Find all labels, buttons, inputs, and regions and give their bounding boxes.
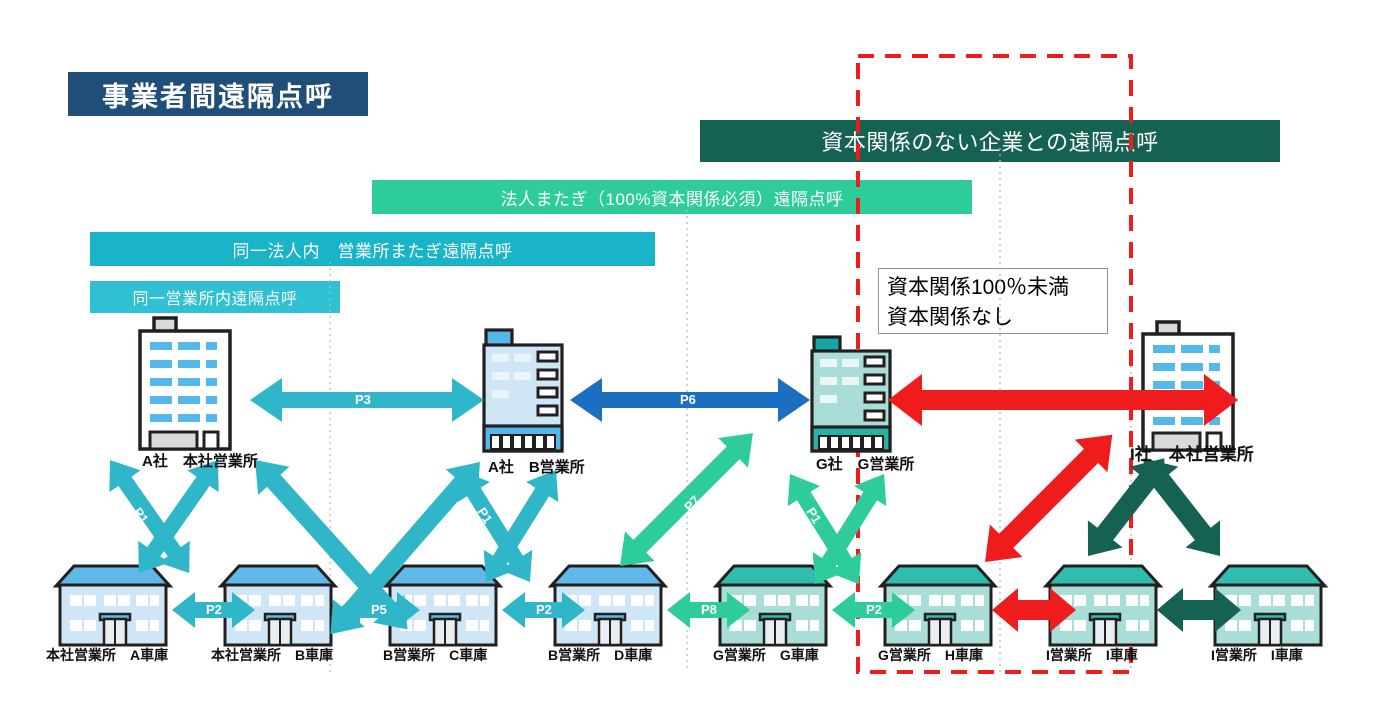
arrow-label-p2-g: P2 — [866, 602, 882, 617]
label-garage-b-d: B営業所 D車庫 — [548, 645, 652, 665]
building-office-a-b — [484, 330, 562, 451]
arrow-label-p8: P8 — [701, 602, 717, 617]
building-office-a-hq — [140, 318, 230, 449]
building-office-g-g — [812, 337, 890, 451]
label-garage-g-h: G営業所 H車庫 — [878, 645, 983, 665]
arrow-label-p3: P3 — [355, 392, 371, 407]
garage-garage-hq-a — [56, 566, 170, 645]
label-garage-b-c: B営業所 C車庫 — [383, 645, 487, 665]
arrow-label-p2-hq: P2 — [206, 602, 222, 617]
label-office-i-hq: I社 本社営業所 — [1130, 440, 1254, 465]
label-garage-hq-b: 本社営業所 B車庫 — [211, 645, 333, 665]
label-garage-i-i2: I営業所 I車庫 — [1211, 645, 1303, 665]
label-garage-hq-a: 本社営業所 A車庫 — [46, 645, 168, 665]
label-office-g-g: G社 G営業所 — [816, 453, 914, 474]
arrow-label-p5: P5 — [371, 602, 387, 617]
label-office-a-b: A社 B営業所 — [488, 456, 585, 477]
label-garage-g-g: G営業所 G車庫 — [713, 645, 819, 665]
arrow-label-p2-b: P2 — [536, 602, 552, 617]
label-garage-i-i1: I営業所 I車庫 — [1046, 645, 1138, 665]
arrow-label-p6: P6 — [680, 392, 696, 407]
label-office-a-hq: A社 本社営業所 — [142, 450, 258, 471]
diagram-canvas: 事業者間遠隔点呼 資本関係のない企業との遠隔点呼 法人またぎ（100%資本関係必… — [0, 0, 1384, 709]
arrow-red-diagonal — [969, 418, 1129, 578]
